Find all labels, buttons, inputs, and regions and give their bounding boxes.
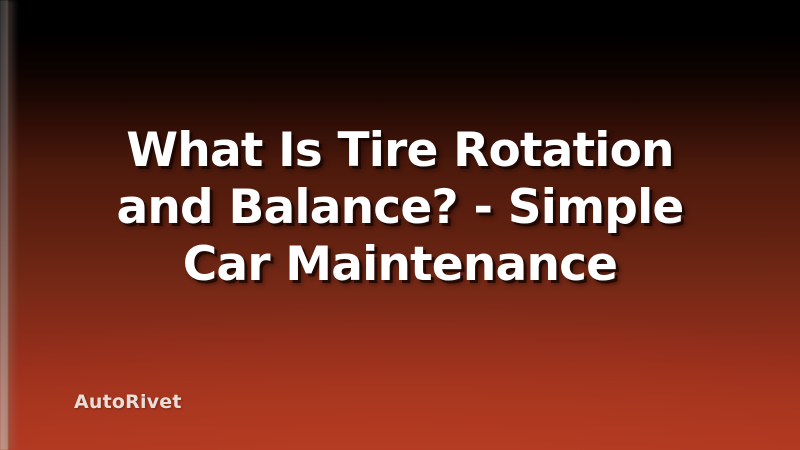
article-hero-card: What Is Tire Rotation and Balance? - Sim… — [0, 0, 800, 450]
page-title-line-3: Car Maintenance — [56, 236, 744, 293]
page-title: What Is Tire Rotation and Balance? - Sim… — [0, 122, 800, 293]
page-title-line-2: and Balance? - Simple — [56, 179, 744, 236]
page-title-line-1: What Is Tire Rotation — [56, 122, 744, 179]
brand-wordmark: AutoRivet — [74, 391, 182, 413]
